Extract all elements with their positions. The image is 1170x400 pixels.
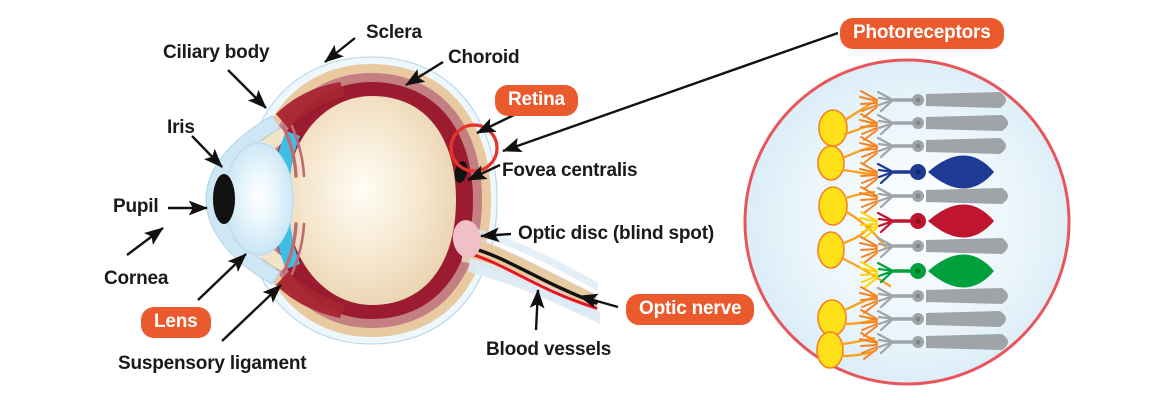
vitreous-body (287, 96, 456, 305)
label-cornea: Cornea (104, 268, 168, 290)
soma (819, 187, 847, 225)
soma (818, 146, 844, 180)
arrow-blood-vessels (536, 290, 538, 330)
soma (817, 332, 843, 368)
badge-lens[interactable]: Lens (141, 307, 211, 338)
label-optic-disc: Optic disc (blind spot) (518, 223, 714, 245)
arrow-suspensory-ligament (222, 285, 281, 341)
photoreceptor-inset (745, 60, 1069, 384)
arrow-iris (192, 136, 222, 167)
label-ciliary-body: Ciliary body (163, 42, 269, 64)
soma (818, 300, 846, 336)
soma (818, 232, 844, 268)
badge-retina[interactable]: Retina (495, 85, 578, 116)
arrow-retina (477, 113, 518, 133)
eye-anatomy-diagram: Ciliary body Sclera Choroid Iris Pupil C… (0, 0, 1170, 400)
label-iris: Iris (167, 117, 195, 139)
label-pupil: Pupil (113, 196, 158, 218)
label-sclera: Sclera (366, 22, 422, 44)
arrow-lens (198, 254, 246, 300)
label-suspensory-ligament: Suspensory ligament (118, 353, 306, 375)
lens-shape (225, 143, 293, 255)
label-blood-vessels: Blood vessels (486, 339, 611, 361)
badge-photoreceptors[interactable]: Photoreceptors (840, 18, 1004, 49)
badge-optic-nerve[interactable]: Optic nerve (626, 294, 754, 325)
label-fovea-centralis: Fovea centralis (502, 160, 637, 182)
arrow-cornea (127, 228, 163, 255)
label-choroid: Choroid (448, 47, 519, 69)
soma (819, 110, 847, 146)
arrow-ciliary-body (228, 70, 266, 108)
pupil-shape (213, 174, 235, 224)
